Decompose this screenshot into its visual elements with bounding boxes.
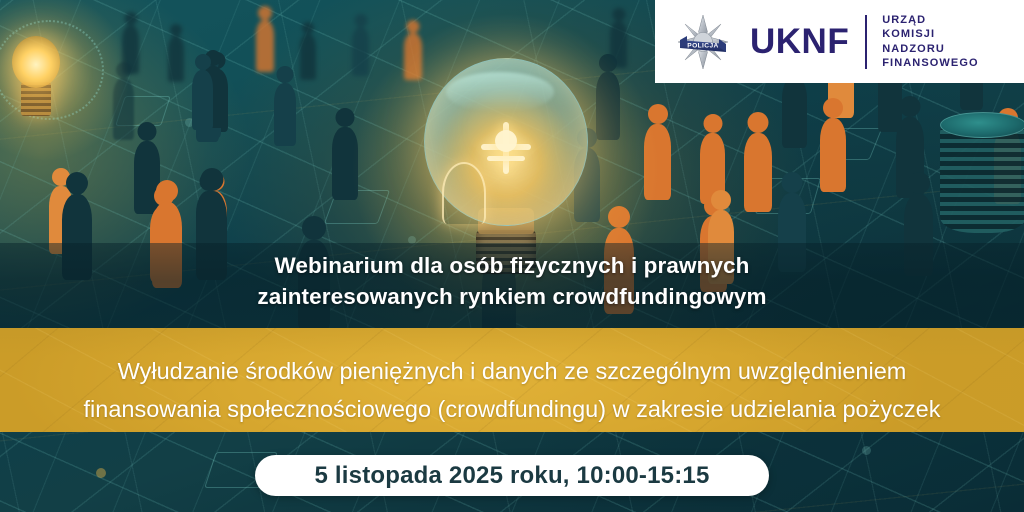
title-line-1: Webinarium dla osób fizycznych i prawnyc… (0, 250, 1024, 281)
webinar-banner: Webinarium dla osób fizycznych i prawnyc… (0, 0, 1024, 512)
uknf-full-name: URZĄD KOMISJI NADZORU FINANSOWEGO (882, 13, 978, 71)
uknf-wordmark: UKNF (750, 24, 849, 59)
logo-divider (865, 15, 867, 69)
logo-container: POLICJA UKNF URZĄD KOMISJI NADZORU FINAN… (655, 0, 1024, 83)
subtitle-line-1: Wyłudzanie środków pieniężnych i danych … (0, 352, 1024, 390)
uknf-name-line-2: KOMISJI (882, 27, 978, 42)
title-line-2: zainteresowanych rynkiem crowdfundingowy… (0, 281, 1024, 312)
event-date-badge: 5 listopada 2025 roku, 10:00-15:15 (255, 455, 769, 496)
uknf-name-line-3: NADZORU (882, 42, 978, 57)
uknf-name-line-4: FINANSOWEGO (882, 56, 978, 71)
page-subtitle: Wyłudzanie środków pieniężnych i danych … (0, 352, 1024, 428)
uknf-name-line-1: URZĄD (882, 13, 978, 28)
page-title: Webinarium dla osób fizycznych i prawnyc… (0, 250, 1024, 312)
police-star-badge-icon: POLICJA (673, 12, 733, 72)
event-date-label: 5 listopada 2025 roku, 10:00-15:15 (315, 462, 710, 490)
police-badge-text: POLICJA (687, 42, 718, 49)
subtitle-line-2: finansowania społecznościowego (crowdfun… (0, 390, 1024, 428)
